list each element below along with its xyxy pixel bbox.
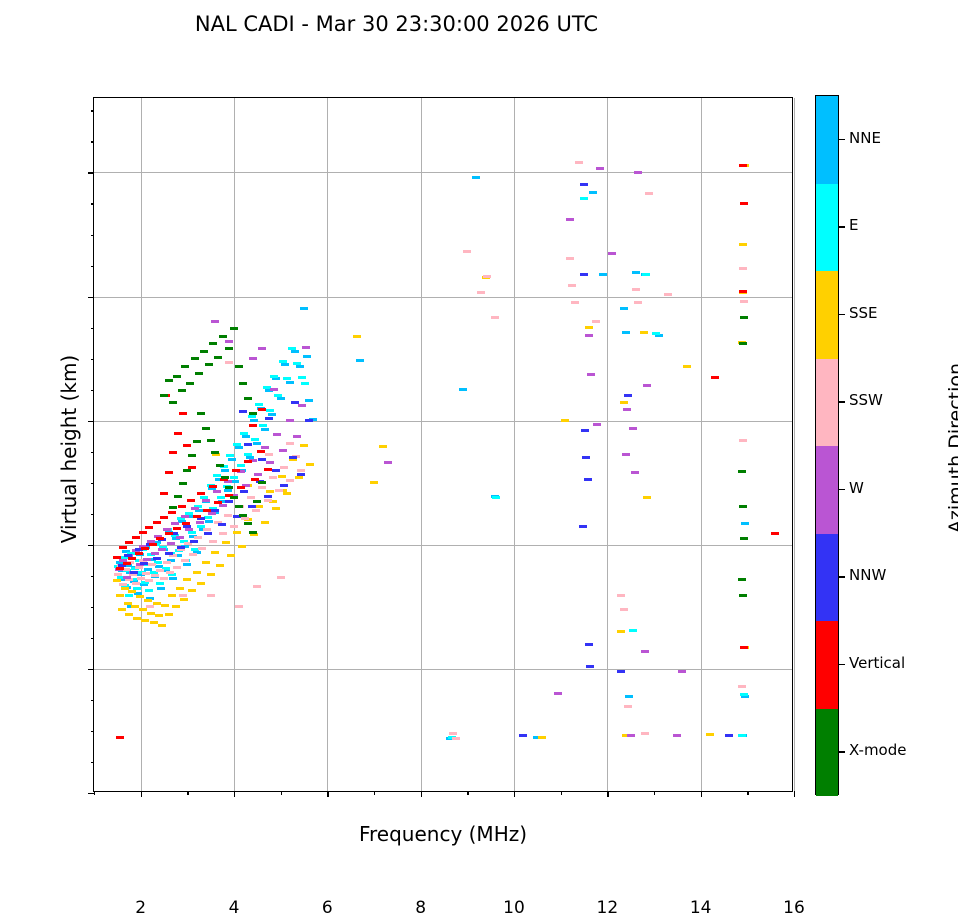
scatter-point — [259, 424, 267, 427]
scatter-point — [208, 512, 216, 515]
scatter-point — [172, 605, 180, 608]
scatter-point — [593, 423, 601, 426]
scatter-point — [279, 360, 287, 363]
scatter-point — [519, 734, 527, 737]
scatter-point — [121, 587, 129, 590]
scatter-point — [622, 453, 630, 456]
scatter-point — [119, 546, 127, 549]
scatter-point — [156, 569, 164, 572]
scatter-point — [230, 476, 238, 479]
scatter-point — [125, 541, 133, 544]
x-tick — [701, 791, 702, 797]
scatter-point — [237, 464, 245, 467]
scatter-point — [232, 469, 240, 472]
scatter-point — [566, 218, 574, 221]
scatter-point — [225, 500, 233, 503]
scatter-point — [264, 499, 272, 502]
y-tick-minor — [91, 266, 95, 267]
scatter-point — [251, 478, 259, 481]
scatter-point — [149, 543, 157, 546]
scatter-point — [194, 536, 202, 539]
scatter-point — [244, 460, 252, 463]
scatter-point — [191, 357, 199, 360]
scatter-point — [135, 552, 143, 555]
scatter-point — [173, 566, 181, 569]
y-tick-minor — [91, 452, 95, 453]
scatter-point — [629, 629, 637, 632]
plot-area: 24681012141602004006008001000 — [93, 97, 793, 792]
scatter-point — [173, 527, 181, 530]
scatter-point — [293, 435, 301, 438]
scatter-point — [142, 572, 150, 575]
scatter-point — [139, 531, 147, 534]
scatter-point — [202, 427, 210, 430]
scatter-point — [249, 357, 257, 360]
colorbar-segment-x-mode — [816, 709, 838, 797]
scatter-point — [291, 401, 299, 404]
scatter-point — [739, 594, 747, 597]
scatter-point — [275, 489, 283, 492]
colorbar-segment-nnw — [816, 534, 838, 622]
scatter-point — [575, 161, 583, 164]
scatter-point — [623, 408, 631, 411]
scatter-point — [193, 571, 201, 574]
y-tick-minor — [91, 110, 95, 111]
x-axis-label: Frequency (MHz) — [93, 822, 793, 846]
scatter-point — [253, 500, 261, 503]
scatter-point — [198, 547, 206, 550]
scatter-point — [225, 486, 233, 489]
scatter-point — [459, 388, 467, 391]
scatter-point — [153, 602, 161, 605]
scatter-point — [136, 595, 144, 598]
scatter-point — [643, 496, 651, 499]
scatter-point — [183, 469, 191, 472]
scatter-point — [174, 432, 182, 435]
colorbar-label-vertical: Vertical — [849, 654, 905, 672]
scatter-point — [145, 526, 153, 529]
scatter-point — [297, 469, 305, 472]
colorbar-tick — [839, 226, 845, 227]
scatter-point — [554, 692, 562, 695]
scatter-point — [197, 412, 205, 415]
scatter-point — [268, 413, 276, 416]
scatter-point — [195, 372, 203, 375]
x-tick-label: 2 — [111, 898, 171, 918]
y-tick-minor — [91, 359, 95, 360]
scatter-point — [179, 412, 187, 415]
colorbar-segment-vertical — [816, 621, 838, 709]
scatter-point — [133, 587, 141, 590]
scatter-point — [165, 471, 173, 474]
scatter-point — [280, 484, 288, 487]
scatter-point — [209, 485, 217, 488]
scatter-point — [167, 542, 175, 545]
colorbar-tick — [839, 314, 845, 315]
scatter-point — [165, 552, 173, 555]
scatter-point — [216, 464, 224, 467]
y-tick-minor — [91, 700, 95, 701]
scatter-point — [200, 350, 208, 353]
scatter-point — [226, 454, 234, 457]
scatter-point — [113, 556, 121, 559]
y-tick-minor — [91, 483, 95, 484]
scatter-point — [738, 578, 746, 581]
scatter-point — [568, 284, 576, 287]
colorbar-tick — [839, 664, 845, 665]
scatter-point — [741, 522, 749, 525]
scatter-point — [143, 558, 151, 561]
scatter-point — [266, 461, 274, 464]
scatter-point — [221, 469, 229, 472]
x-tick — [421, 791, 422, 797]
scatter-point — [739, 290, 747, 293]
scatter-point — [587, 373, 595, 376]
scatter-point — [261, 446, 269, 449]
scatter-point — [356, 359, 364, 362]
scatter-point — [130, 571, 138, 574]
scatter-point — [168, 594, 176, 597]
scatter-point — [228, 458, 236, 461]
y-tick-minor — [91, 607, 95, 608]
scatter-point — [133, 617, 141, 620]
scatter-point — [251, 438, 259, 441]
scatter-point — [270, 388, 278, 391]
scatter-point — [581, 429, 589, 432]
scatter-point — [739, 505, 747, 508]
scatter-point — [620, 608, 628, 611]
scatter-point — [174, 495, 182, 498]
scatter-point — [255, 403, 263, 406]
scatter-point — [640, 331, 648, 334]
scatter-point — [740, 202, 748, 205]
scatter-point — [209, 342, 217, 345]
scatter-point — [738, 685, 746, 688]
scatter-point — [183, 578, 191, 581]
scatter-point — [739, 342, 747, 345]
scatter-point — [305, 419, 313, 422]
scatter-point — [253, 585, 261, 588]
colorbar-label-nnw: NNW — [849, 566, 886, 584]
x-tick — [234, 791, 235, 797]
scatter-point — [213, 490, 221, 493]
colorbar-segment-nne — [816, 96, 838, 184]
scatter-point — [191, 507, 199, 510]
scatter-point — [265, 417, 273, 420]
scatter-point — [379, 445, 387, 448]
scatter-point — [771, 532, 779, 535]
scatter-point — [163, 528, 171, 531]
scatter-point — [211, 509, 219, 512]
scatter-point — [197, 525, 205, 528]
x-tick-label: 12 — [577, 898, 637, 918]
scatter-point — [673, 734, 681, 737]
scatter-point — [571, 301, 579, 304]
scatter-point — [165, 379, 173, 382]
scatter-point — [491, 316, 499, 319]
scatter-point — [264, 495, 272, 498]
x-tick-minor — [467, 791, 468, 795]
scatter-point — [177, 546, 185, 549]
scatter-point — [225, 340, 233, 343]
colorbar-segment-e — [816, 184, 838, 272]
scatter-point — [452, 737, 460, 740]
y-tick-minor — [91, 235, 95, 236]
scatter-point — [244, 397, 252, 400]
scatter-point — [147, 540, 155, 543]
y-tick-minor — [91, 514, 95, 515]
scatter-point — [678, 670, 686, 673]
scatter-point — [627, 734, 635, 737]
scatter-point — [183, 563, 191, 566]
scatter-point — [214, 501, 222, 504]
scatter-point — [189, 553, 197, 556]
scatter-point — [125, 594, 133, 597]
scatter-point — [160, 394, 168, 397]
scatter-point — [128, 557, 136, 560]
scatter-point — [738, 470, 746, 473]
scatter-point — [580, 273, 588, 276]
scatter-point — [224, 514, 232, 517]
colorbar-segment-ssw — [816, 359, 838, 447]
scatter-point — [289, 456, 297, 459]
scatter-point — [205, 363, 213, 366]
scatter-point — [283, 492, 291, 495]
scatter-point — [643, 384, 651, 387]
scatter-point — [645, 192, 653, 195]
scatter-point — [239, 410, 247, 413]
scatter-point — [197, 582, 205, 585]
scatter-point — [255, 505, 263, 508]
colorbar-title: Azimuth Direction — [945, 198, 958, 698]
scatter-point — [683, 365, 691, 368]
scatter-point — [169, 451, 177, 454]
scatter-point — [125, 613, 133, 616]
scatter-point — [725, 734, 733, 737]
scatter-point — [738, 734, 746, 737]
scatter-point — [119, 583, 127, 586]
scatter-point — [160, 577, 168, 580]
scatter-point — [238, 545, 246, 548]
scatter-point — [230, 525, 238, 528]
scatter-point — [265, 453, 273, 456]
scatter-point — [237, 486, 245, 489]
scatter-point — [266, 409, 274, 412]
scatter-point — [739, 267, 747, 270]
scatter-point — [266, 490, 274, 493]
scatter-point — [128, 590, 136, 593]
scatter-point — [158, 548, 166, 551]
scatter-point — [182, 522, 190, 525]
scatter-point — [146, 605, 154, 608]
scatter-point — [235, 505, 243, 508]
scatter-point — [740, 646, 748, 649]
scatter-point — [257, 450, 265, 453]
scatter-point — [185, 528, 193, 531]
scatter-point — [209, 540, 217, 543]
scatter-point — [253, 442, 261, 445]
scatter-point — [492, 496, 500, 499]
scatter-point — [629, 427, 637, 430]
x-tick-minor — [94, 791, 95, 795]
scatter-point — [580, 183, 588, 186]
scatter-point — [207, 594, 215, 597]
scatter-point — [163, 561, 171, 564]
x-tick-minor — [747, 791, 748, 795]
scatter-point — [141, 619, 149, 622]
scatter-point — [188, 589, 196, 592]
scatter-point — [145, 589, 153, 592]
scatter-point — [176, 536, 184, 539]
scatter-point — [244, 453, 252, 456]
scatter-point — [353, 335, 361, 338]
scatter-point — [632, 271, 640, 274]
scatter-point — [740, 300, 748, 303]
scatter-point — [652, 332, 660, 335]
scatter-point — [147, 612, 155, 615]
scatter-point — [181, 365, 189, 368]
scatter-point — [273, 433, 281, 436]
scatter-point — [258, 408, 266, 411]
scatter-point — [632, 288, 640, 291]
scatter-point — [306, 463, 314, 466]
scatter-point — [247, 496, 255, 499]
scatter-point — [249, 424, 257, 427]
scatter-point — [631, 471, 639, 474]
scatter-point — [140, 562, 148, 565]
scatter-point — [173, 375, 181, 378]
scatter-point — [642, 273, 650, 276]
x-tick-label: 8 — [391, 898, 451, 918]
scatter-point — [711, 376, 719, 379]
scatter-point — [740, 537, 748, 540]
scatter-point — [300, 307, 308, 310]
scatter-point — [113, 579, 121, 582]
x-tick-minor — [281, 791, 282, 795]
y-tick — [88, 793, 94, 794]
y-tick-minor — [91, 731, 95, 732]
scatter-point — [161, 604, 169, 607]
scatter-point — [160, 516, 168, 519]
scatter-point — [151, 574, 159, 577]
x-tick — [514, 791, 515, 797]
scatter-point — [261, 428, 269, 431]
scatter-point — [283, 377, 291, 380]
scatter-point — [219, 532, 227, 535]
scatter-point — [224, 489, 232, 492]
scatter-point — [151, 552, 159, 555]
scatter-point — [622, 331, 630, 334]
scatter-point — [586, 665, 594, 668]
scatter-point — [156, 537, 164, 540]
scatter-point — [207, 439, 215, 442]
scatter-point — [241, 517, 249, 520]
scatter-point — [281, 363, 289, 366]
scatter-point — [233, 531, 241, 534]
scatter-point — [158, 624, 166, 627]
colorbar-label-sse: SSE — [849, 304, 878, 322]
colorbar-label-w: W — [849, 479, 864, 497]
scatter-point — [277, 576, 285, 579]
scatter-point — [384, 461, 392, 464]
scatter-point — [286, 381, 294, 384]
scatter-point — [592, 320, 600, 323]
colorbar-tick — [839, 401, 845, 402]
scatter-point — [254, 473, 262, 476]
scatter-point — [190, 540, 198, 543]
y-tick-minor — [91, 141, 95, 142]
x-tick — [327, 791, 328, 797]
scatter-point — [617, 670, 625, 673]
scatter-point — [664, 293, 672, 296]
scatter-point — [472, 176, 480, 179]
colorbar-tick — [839, 489, 845, 490]
scatter-point — [165, 613, 173, 616]
scatter-point — [207, 573, 215, 576]
scatter-point — [205, 520, 213, 523]
scatter-point — [258, 458, 266, 461]
scatter-point — [279, 449, 287, 452]
scatter-point — [211, 451, 219, 454]
scatter-point — [148, 563, 156, 566]
scatter-point — [634, 301, 642, 304]
scatter-point — [156, 582, 164, 585]
scatter-point — [178, 389, 186, 392]
scatter-point — [235, 605, 243, 608]
scatter-point — [288, 347, 296, 350]
scatter-point — [225, 361, 233, 364]
x-tick — [141, 791, 142, 797]
scatter-point — [589, 191, 597, 194]
scatter-point — [116, 567, 124, 570]
scatter-point — [204, 532, 212, 535]
scatter-point — [258, 481, 266, 484]
scatter-point — [188, 454, 196, 457]
scatter-point — [625, 695, 633, 698]
scatter-point — [579, 525, 587, 528]
scatter-point — [230, 496, 238, 499]
x-tick-minor — [187, 791, 188, 795]
scatter-point — [196, 521, 204, 524]
scatter-point — [293, 362, 301, 365]
scatter-point — [116, 736, 124, 739]
scatter-point — [211, 320, 219, 323]
scatter-point — [221, 476, 229, 479]
scatter-point — [261, 521, 269, 524]
y-tick — [88, 421, 94, 422]
scatter-point — [298, 404, 306, 407]
scatter-point — [203, 528, 211, 531]
scatter-point — [740, 316, 748, 319]
scatter-point — [165, 532, 173, 535]
scatter-point — [566, 257, 574, 260]
scatter-point — [202, 561, 210, 564]
scatter-point — [187, 499, 195, 502]
scatter-point — [624, 705, 632, 708]
scatter-point — [218, 523, 226, 526]
scatter-point — [240, 490, 248, 493]
scatter-point — [230, 327, 238, 330]
scatter-point — [264, 468, 272, 471]
colorbar-segment-sse — [816, 271, 838, 359]
scatter-point — [169, 577, 177, 580]
scatter-point — [599, 273, 607, 276]
scatter-point — [274, 394, 282, 397]
x-tick-label: 4 — [204, 898, 264, 918]
scatter-point — [641, 650, 649, 653]
scatter-point — [302, 346, 310, 349]
x-tick-minor — [374, 791, 375, 795]
